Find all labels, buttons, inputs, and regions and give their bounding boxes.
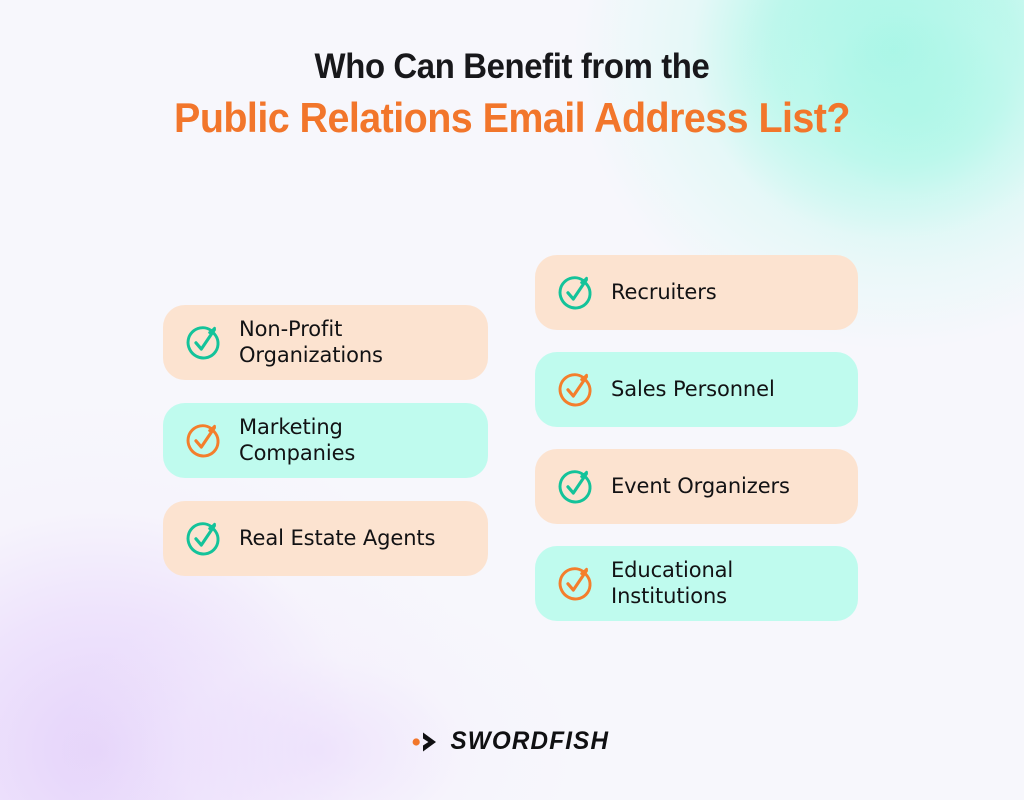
page-title-line-2: Public Relations Email Address List?	[31, 93, 994, 143]
brand-logo: SWORDFISH	[0, 727, 1024, 756]
benefit-card[interactable]: Marketing Companies	[163, 403, 488, 478]
brand-logo-text: SWORDFISH	[451, 727, 610, 756]
benefit-card-label: Marketing Companies	[239, 415, 355, 466]
benefit-list-right-column: RecruitersSales PersonnelEvent Organizer…	[535, 255, 858, 621]
benefit-list-left-column: Non-Profit OrganizationsMarketing Compan…	[163, 305, 488, 576]
benefit-card-label: Real Estate Agents	[239, 526, 435, 552]
background-glow-lavender-inner	[60, 580, 580, 800]
check-circle-icon	[181, 517, 225, 561]
chevron-right-logo-icon	[412, 730, 438, 754]
check-circle-icon	[181, 321, 225, 365]
infographic-canvas: Who Can Benefit from the Public Relation…	[0, 0, 1024, 800]
check-circle-icon	[553, 465, 597, 509]
page-title-line-1: Who Can Benefit from the	[31, 46, 994, 87]
benefit-card[interactable]: Sales Personnel	[535, 352, 858, 427]
benefit-card-label: Sales Personnel	[611, 377, 775, 403]
page-title: Who Can Benefit from the Public Relation…	[0, 46, 1024, 143]
benefit-card[interactable]: Event Organizers	[535, 449, 858, 524]
benefit-card[interactable]: Non-Profit Organizations	[163, 305, 488, 380]
benefit-card[interactable]: Educational Institutions	[535, 546, 858, 621]
benefit-card-label: Non-Profit Organizations	[239, 317, 383, 368]
check-circle-icon	[553, 562, 597, 606]
benefit-card-label: Recruiters	[611, 280, 717, 306]
benefit-card[interactable]: Real Estate Agents	[163, 501, 488, 576]
check-circle-icon	[181, 419, 225, 463]
check-circle-icon	[553, 368, 597, 412]
benefit-card-label: Event Organizers	[611, 474, 790, 500]
benefit-card[interactable]: Recruiters	[535, 255, 858, 330]
check-circle-icon	[553, 271, 597, 315]
benefit-card-label: Educational Institutions	[611, 558, 733, 609]
